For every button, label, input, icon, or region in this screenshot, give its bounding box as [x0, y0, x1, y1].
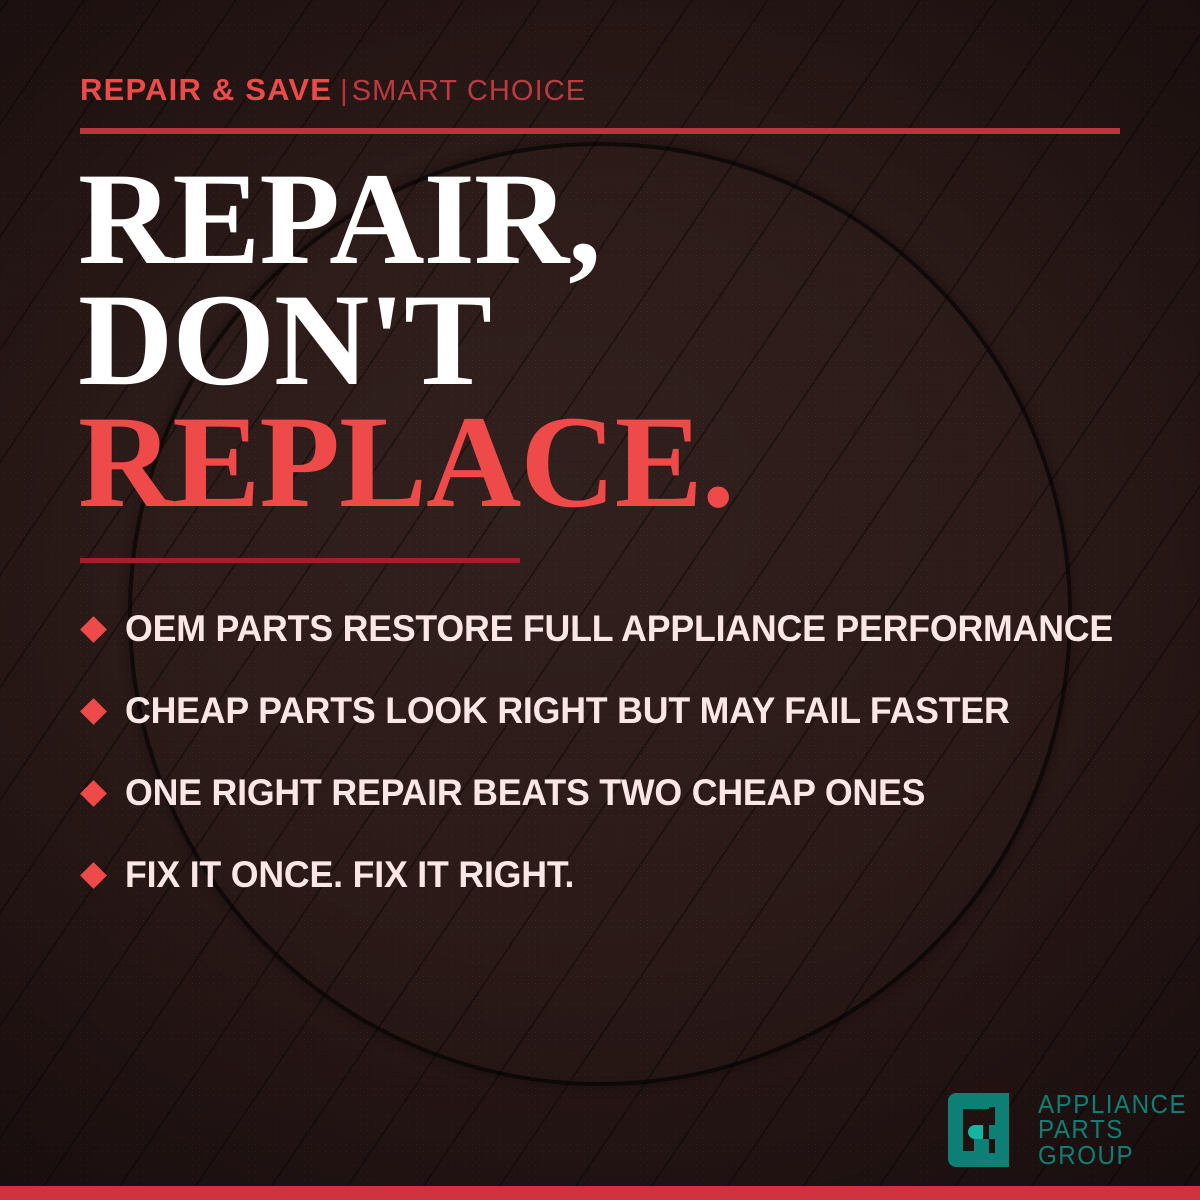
list-item-label: ONE RIGHT REPAIR BEATS TWO CHEAP ONES: [125, 772, 925, 814]
brand-logo-line-3: GROUP: [1038, 1143, 1187, 1168]
list-item-label: FIX IT ONCE. FIX IT RIGHT.: [125, 854, 574, 896]
diamond-bullet-icon: [80, 698, 107, 725]
list-item: ONE RIGHT REPAIR BEATS TWO CHEAP ONES: [80, 752, 1160, 834]
diamond-bullet-icon: [80, 862, 107, 889]
headline-divider: [80, 558, 520, 563]
diamond-bullet-icon: [80, 780, 107, 807]
list-item: FIX IT ONCE. FIX IT RIGHT.: [80, 834, 1160, 916]
eyebrow-separator: |: [340, 75, 348, 107]
brand-logo-text: APPLIANCE PARTS GROUP: [1038, 1092, 1198, 1168]
headline: REPAIR, DON'T REPLACE.: [78, 158, 734, 522]
headline-line-2: DON'T: [78, 279, 734, 400]
list-item-label: CHEAP PARTS LOOK RIGHT BUT MAY FAIL FAST…: [125, 690, 1010, 732]
footer-accent-bar: [0, 1186, 1200, 1200]
eyebrow-subtitle: SMART CHOICE: [352, 75, 587, 107]
brand-logo: APPLIANCE PARTS GROUP: [948, 1092, 1198, 1168]
list-item-label: OEM PARTS RESTORE FULL APPLIANCE PERFORM…: [125, 608, 1113, 650]
list-item: OEM PARTS RESTORE FULL APPLIANCE PERFORM…: [80, 588, 1160, 670]
diamond-bullet-icon: [80, 616, 107, 643]
header-rule: [80, 128, 1120, 134]
headline-line-3: REPLACE.: [78, 401, 734, 522]
benefit-list: OEM PARTS RESTORE FULL APPLIANCE PERFORM…: [80, 588, 1160, 916]
poster-canvas: REPAIR & SAVE|SMART CHOICE REPAIR, DON'T…: [0, 0, 1200, 1200]
eyebrow-kicker: REPAIR & SAVE: [80, 72, 332, 107]
headline-line-1: REPAIR,: [78, 158, 734, 279]
list-item: CHEAP PARTS LOOK RIGHT BUT MAY FAIL FAST…: [80, 670, 1160, 752]
eyebrow: REPAIR & SAVE|SMART CHOICE: [80, 74, 586, 106]
g-monogram-icon: [948, 1093, 1026, 1167]
poster-content: REPAIR & SAVE|SMART CHOICE REPAIR, DON'T…: [0, 0, 1200, 1200]
